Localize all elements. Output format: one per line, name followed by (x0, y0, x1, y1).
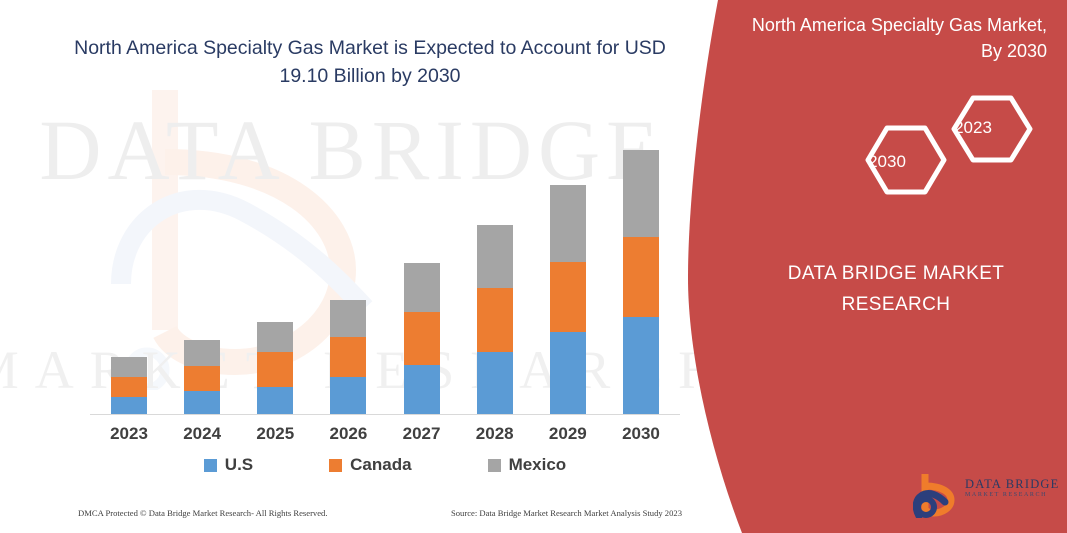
x-axis-label: 2027 (391, 424, 453, 444)
brand-name-line2: RESEARCH (745, 289, 1047, 320)
bar-stack[interactable] (257, 322, 293, 415)
bar-stack[interactable] (623, 150, 659, 415)
footer-dmca-text: DMCA Protected © Data Bridge Market Rese… (78, 508, 328, 518)
hexagon-2030-label: 2030 (847, 152, 927, 172)
bar-segment-canada[interactable] (111, 377, 147, 397)
footer: DMCA Protected © Data Bridge Market Rese… (78, 508, 688, 518)
hexagon-2023-label: 2023 (933, 118, 1013, 138)
bar-stack[interactable] (330, 300, 366, 415)
bar-segment-us[interactable] (550, 332, 586, 415)
bar-segment-us[interactable] (404, 365, 440, 415)
chart-legend: U.SCanadaMexico (90, 455, 680, 475)
legend-label: U.S (225, 455, 253, 475)
bar-stack[interactable] (550, 185, 586, 415)
logo-mark-icon (913, 472, 963, 518)
logo-subtitle: MARKET RESEARCH (965, 491, 1060, 500)
x-axis-label: 2026 (317, 424, 379, 444)
footer-source-text: Source: Data Bridge Market Research Mark… (451, 508, 682, 518)
bar-segment-mexico[interactable] (550, 185, 586, 262)
bar-group (391, 142, 453, 415)
legend-item[interactable]: Canada (329, 455, 411, 475)
brand-name-line1: DATA BRIDGE MARKET (745, 258, 1047, 289)
brand-panel-title: North America Specialty Gas Market, By 2… (745, 12, 1047, 64)
legend-item[interactable]: Mexico (488, 455, 567, 475)
bar-segment-us[interactable] (477, 352, 513, 415)
bar-segment-mexico[interactable] (257, 322, 293, 352)
bar-segment-mexico[interactable] (404, 263, 440, 312)
bar-segment-mexico[interactable] (184, 340, 220, 366)
brand-panel-content: North America Specialty Gas Market, By 2… (745, 0, 1067, 533)
bar-segment-canada[interactable] (404, 312, 440, 365)
bar-segment-us[interactable] (257, 387, 293, 415)
bar-group (317, 142, 379, 415)
bar-segment-mexico[interactable] (477, 225, 513, 288)
bar-segment-canada[interactable] (330, 337, 366, 377)
bar-segment-us[interactable] (184, 391, 220, 415)
bar-segment-us[interactable] (111, 397, 147, 415)
bar-segment-mexico[interactable] (111, 357, 147, 377)
x-axis-line (90, 414, 680, 415)
company-logo: DATA BRIDGE MARKET RESEARCH (913, 472, 1058, 518)
bar-segment-mexico[interactable] (623, 150, 659, 237)
bar-segment-us[interactable] (623, 317, 659, 415)
bar-segment-canada[interactable] (257, 352, 293, 387)
brand-name: DATA BRIDGE MARKET RESEARCH (745, 258, 1047, 320)
legend-label: Mexico (509, 455, 567, 475)
bar-group (537, 142, 599, 415)
chart-panel: DATA BRIDGE MARKET RESEARCH North Americ… (0, 0, 730, 533)
x-axis-label: 2023 (98, 424, 160, 444)
hexagon-group: 2030 2023 (805, 93, 1055, 213)
bar-stack[interactable] (477, 225, 513, 415)
bar-stack[interactable] (184, 340, 220, 415)
x-axis-label: 2028 (464, 424, 526, 444)
bar-group (98, 142, 160, 415)
bar-group (244, 142, 306, 415)
legend-item[interactable]: U.S (204, 455, 253, 475)
infographic-root: DATA BRIDGE MARKET RESEARCH North Americ… (0, 0, 1067, 533)
bar-stack[interactable] (111, 357, 147, 415)
chart-title: North America Specialty Gas Market is Ex… (60, 34, 680, 90)
bar-segment-canada[interactable] (623, 237, 659, 317)
x-axis-label: 2025 (244, 424, 306, 444)
legend-label: Canada (350, 455, 411, 475)
bar-segment-canada[interactable] (477, 288, 513, 352)
bar-stack[interactable] (404, 263, 440, 415)
x-axis-label: 2024 (171, 424, 233, 444)
x-axis-label: 2029 (537, 424, 599, 444)
bar-segment-mexico[interactable] (330, 300, 366, 337)
legend-swatch-icon (204, 459, 217, 472)
logo-title: DATA BRIDGE (965, 477, 1060, 491)
bar-group (610, 142, 672, 415)
legend-swatch-icon (488, 459, 501, 472)
bar-group (464, 142, 526, 415)
bar-segment-canada[interactable] (184, 366, 220, 391)
stacked-bar-chart (90, 140, 680, 415)
x-axis-label: 2030 (610, 424, 672, 444)
bar-segment-canada[interactable] (550, 262, 586, 332)
bar-group (171, 142, 233, 415)
bar-segment-us[interactable] (330, 377, 366, 415)
legend-swatch-icon (329, 459, 342, 472)
x-axis-tick-labels: 20232024202520262027202820292030 (90, 424, 680, 444)
chart-plot-area (90, 142, 680, 415)
logo-text-block: DATA BRIDGE MARKET RESEARCH (965, 477, 1060, 500)
